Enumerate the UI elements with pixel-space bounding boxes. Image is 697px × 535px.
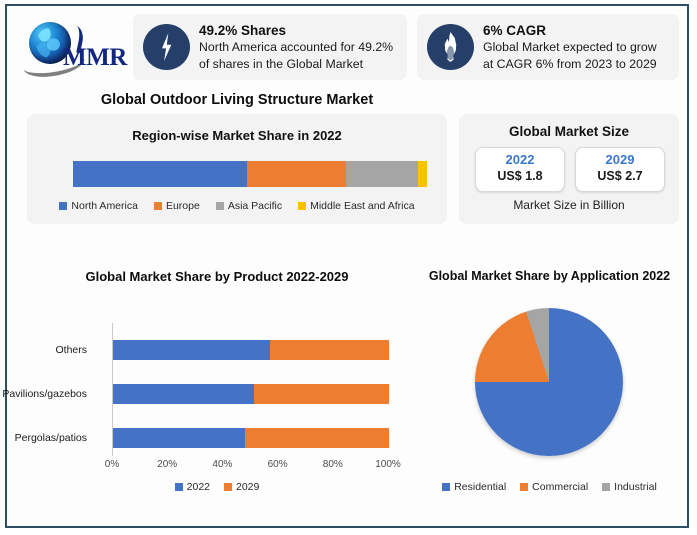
region-legend-label: Middle East and Africa	[310, 200, 414, 212]
product-legend-item[interactable]: 2029	[224, 481, 259, 493]
product-bar-segment	[254, 384, 389, 404]
product-bar-row	[113, 428, 389, 448]
legend-swatch-icon	[175, 483, 183, 491]
pie-legend-label: Residential	[454, 481, 506, 493]
product-bar-segment	[113, 428, 245, 448]
legend-swatch-icon	[520, 483, 528, 491]
pie-legend-item[interactable]: Residential	[442, 481, 506, 493]
region-legend-item[interactable]: Middle East and Africa	[298, 200, 414, 212]
market-size-value: US$ 1.8	[476, 169, 564, 183]
product-plot-area: OthersPavilions/gazebosPergolas/patios	[112, 323, 389, 456]
highlight-title: 49.2% Shares	[199, 22, 401, 39]
product-legend-label: 2029	[236, 481, 259, 493]
lightning-bolt-icon	[143, 24, 190, 70]
product-bar-row	[113, 384, 389, 404]
product-x-tick: 20%	[157, 459, 177, 470]
product-chart-legend: 20222029	[17, 481, 417, 493]
region-legend-item[interactable]: North America	[59, 200, 138, 212]
market-size-value: US$ 2.7	[576, 169, 664, 183]
product-x-tick: 0%	[105, 459, 119, 470]
flame-glyph	[441, 32, 460, 62]
product-bar-segment	[270, 340, 389, 360]
region-legend-item[interactable]: Asia Pacific	[216, 200, 282, 212]
region-bar-segment	[73, 161, 247, 187]
highlight-card-shares-text: 49.2% Shares North America accounted for…	[199, 22, 401, 72]
market-size-title: Global Market Size	[459, 124, 679, 139]
pie-circle	[475, 308, 623, 456]
legend-swatch-icon	[59, 202, 67, 210]
pie-chart-legend: ResidentialCommercialIndustrial	[412, 481, 687, 493]
legend-swatch-icon	[442, 483, 450, 491]
highlight-line-2: of shares in the Global Market	[199, 56, 401, 73]
legend-swatch-icon	[154, 202, 162, 210]
region-chart-legend: North AmericaEuropeAsia PacificMiddle Ea…	[27, 200, 447, 212]
product-x-tick: 40%	[212, 459, 232, 470]
legend-swatch-icon	[216, 202, 224, 210]
pie-legend-item[interactable]: Commercial	[520, 481, 588, 493]
header-row: MMR 49.2% Shares North America accounted…	[7, 6, 687, 88]
application-share-chart: Global Market Share by Application 2022 …	[412, 261, 687, 511]
product-category-label: Others	[0, 344, 87, 356]
market-size-year: 2022	[476, 152, 564, 167]
highlight-card-cagr-text: 6% CAGR Global Market expected to grow a…	[483, 22, 673, 72]
market-size-footer: Market Size in Billion	[459, 198, 679, 212]
product-x-tick: 80%	[323, 459, 343, 470]
flame-icon	[427, 24, 474, 70]
region-legend-label: Asia Pacific	[228, 200, 282, 212]
brand-name: MMR	[63, 44, 127, 72]
product-x-axis: 0%20%40%60%80%100%	[112, 459, 388, 475]
market-size-panel: Global Market Size 2022 US$ 1.8 2029 US$…	[459, 114, 679, 224]
region-bar-segment	[418, 161, 427, 187]
product-bar-segment	[113, 384, 254, 404]
pie-chart-title: Global Market Share by Application 2022	[412, 269, 687, 283]
region-legend-label: North America	[71, 200, 138, 212]
legend-swatch-icon	[298, 202, 306, 210]
product-bar-segment	[245, 428, 389, 448]
highlight-line-1: Global Market expected to grow	[483, 39, 673, 56]
legend-swatch-icon	[602, 483, 610, 491]
region-legend-item[interactable]: Europe	[154, 200, 200, 212]
legend-swatch-icon	[224, 483, 232, 491]
region-bar-segment	[346, 161, 419, 187]
bolt-glyph	[159, 33, 174, 61]
pie-legend-item[interactable]: Industrial	[602, 481, 657, 493]
product-bar-row	[113, 340, 389, 360]
market-size-box-2029: 2029 US$ 2.7	[575, 147, 665, 192]
region-bar-segment	[247, 161, 345, 187]
product-x-tick: 100%	[375, 459, 401, 470]
region-stacked-bar	[73, 161, 427, 187]
highlight-card-shares: 49.2% Shares North America accounted for…	[133, 14, 407, 80]
highlight-card-cagr: 6% CAGR Global Market expected to grow a…	[417, 14, 679, 80]
region-chart-title: Region-wise Market Share in 2022	[27, 128, 447, 143]
product-share-chart: Global Market Share by Product 2022-2029…	[17, 261, 417, 511]
market-size-year: 2029	[576, 152, 664, 167]
product-category-label: Pergolas/patios	[0, 432, 87, 444]
product-category-label: Pavilions/gazebos	[0, 388, 87, 400]
highlight-title: 6% CAGR	[483, 22, 673, 39]
region-share-panel: Region-wise Market Share in 2022 North A…	[27, 114, 447, 224]
pie-legend-label: Commercial	[532, 481, 588, 493]
product-x-tick: 60%	[268, 459, 288, 470]
mmr-logo: MMR	[15, 18, 125, 76]
product-bar-segment	[113, 340, 270, 360]
market-size-box-2022: 2022 US$ 1.8	[475, 147, 565, 192]
region-legend-label: Europe	[166, 200, 200, 212]
pie-legend-label: Industrial	[614, 481, 657, 493]
product-legend-label: 2022	[187, 481, 210, 493]
highlight-line-1: North America accounted for 49.2%	[199, 39, 401, 56]
product-legend-item[interactable]: 2022	[175, 481, 210, 493]
page-title: Global Outdoor Living Structure Market	[7, 92, 467, 108]
infographic-frame: MMR 49.2% Shares North America accounted…	[5, 4, 689, 528]
product-chart-title: Global Market Share by Product 2022-2029	[17, 269, 417, 284]
highlight-line-2: at CAGR 6% from 2023 to 2029	[483, 56, 673, 73]
